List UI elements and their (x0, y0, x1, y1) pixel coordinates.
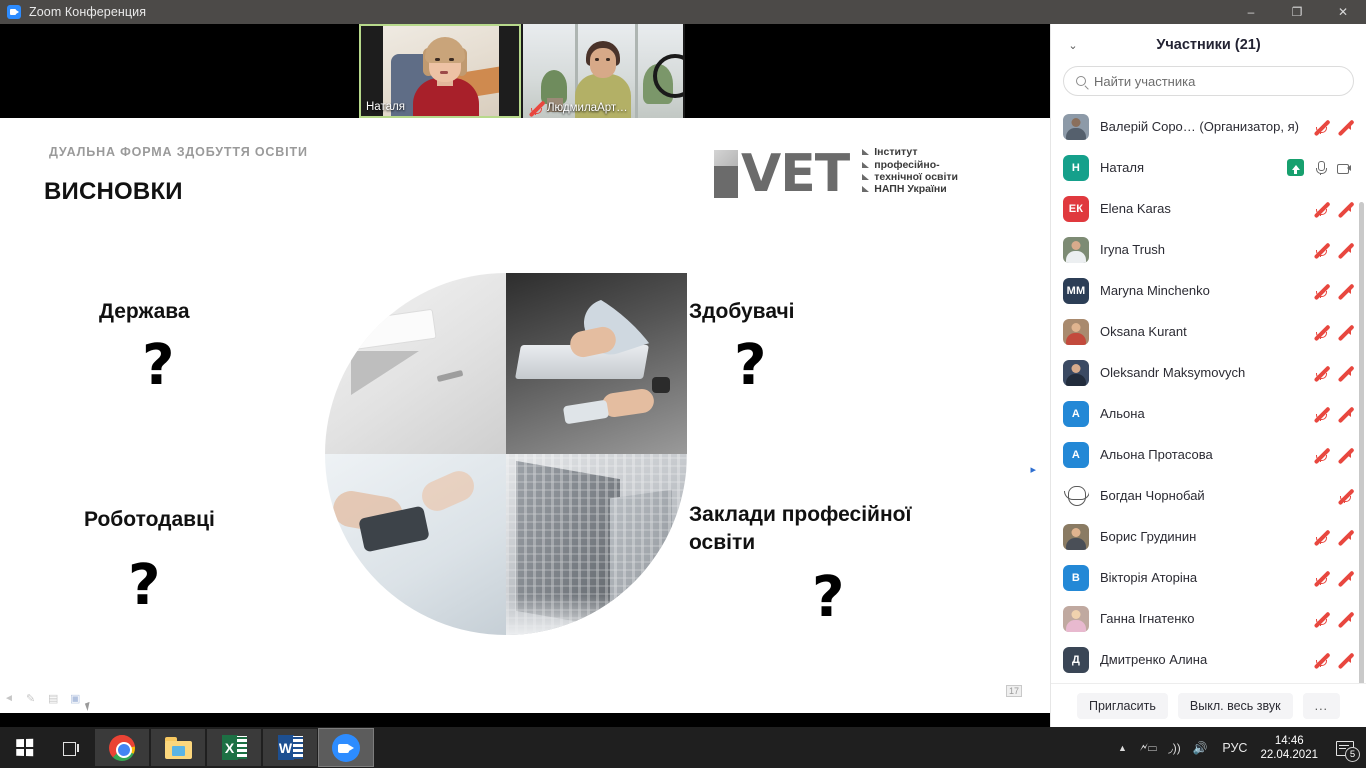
previous-slide-button[interactable] (4, 695, 18, 709)
notifications-button[interactable]: 5 (1326, 727, 1362, 768)
invite-button[interactable]: Пригласить (1077, 693, 1168, 719)
video-filmstrip: Наталя ЛюдмилаАрт… (359, 24, 685, 118)
camera-off-icon[interactable] (1337, 283, 1352, 298)
more-options-button[interactable]: ... (1303, 693, 1340, 719)
ivet-logo-line-3: технічної освіти (862, 171, 958, 183)
search-box[interactable] (1063, 66, 1354, 96)
quadrant-question-employers: ? (128, 558, 160, 614)
windows-logo-icon (16, 739, 33, 756)
chrome-icon (109, 735, 135, 761)
camera-on-icon[interactable] (1337, 160, 1352, 175)
participant-name: Альона Протасова (1100, 447, 1302, 462)
slide-kicker: ДУАЛЬНА ФОРМА ЗДОБУТТЯ ОСВІТИ (49, 145, 308, 159)
camera-off-icon[interactable] (1337, 570, 1352, 585)
participant-status-icons (1313, 611, 1352, 626)
mic-off-icon[interactable] (1313, 611, 1328, 626)
participants-search-wrap (1051, 66, 1366, 106)
close-button[interactable]: ✕ (1320, 0, 1366, 24)
participant-name: Богдан Чорнобай (1100, 488, 1326, 503)
camera-off-icon[interactable] (1337, 242, 1352, 257)
participants-title: Участники (21) (1051, 37, 1366, 53)
taskbar-app-excel[interactable]: X (207, 729, 261, 766)
camera-off-icon[interactable] (1337, 652, 1352, 667)
mic-off-icon[interactable] (1337, 488, 1352, 503)
next-slide-button[interactable] (70, 695, 84, 709)
participant-row[interactable]: А Альона Протасова (1051, 434, 1366, 475)
video-tile-label: ЛюдмилаАрт… (547, 102, 628, 114)
participants-header: ⌄ Участники (21) (1051, 24, 1366, 66)
window-controls: – ❐ ✕ (1228, 0, 1366, 24)
slide-title: ВИСНОВКИ (44, 178, 183, 206)
quadrant-question-institutions: ? (812, 570, 844, 626)
zoom-meeting-window: Zoom Конференция – ❐ ✕ Наталя (0, 0, 1366, 727)
participant-row[interactable]: ЕК Elena Karas (1051, 188, 1366, 229)
participant-status-icons (1313, 447, 1352, 462)
excel-icon: X (222, 735, 247, 760)
zoom-camera-icon (7, 5, 21, 19)
mic-off-icon[interactable] (1313, 652, 1328, 667)
taskbar-app-zoom[interactable] (319, 729, 373, 766)
camera-off-icon[interactable] (1337, 201, 1352, 216)
battery-icon[interactable]: 🗲▭ (1135, 727, 1161, 768)
mic-off-icon[interactable] (1313, 119, 1328, 134)
participant-status-icons (1313, 652, 1352, 667)
mic-off-icon[interactable] (1313, 570, 1328, 585)
participant-name: Elena Karas (1100, 201, 1302, 216)
wifi-icon[interactable]: ◞)) (1161, 727, 1187, 768)
participant-status-icons (1313, 283, 1352, 298)
participant-row[interactable]: ММ Maryna Minchenko (1051, 270, 1366, 311)
mic-off-icon[interactable] (1313, 447, 1328, 462)
avatar (1063, 606, 1089, 632)
window-titlebar: Zoom Конференция – ❐ ✕ (0, 0, 1366, 24)
video-tile-label: Наталя (366, 101, 405, 113)
collage-quadrant-desk (325, 273, 506, 454)
ivet-logo-line-2: професійно- (862, 159, 958, 171)
clock-time: 14:46 (1260, 734, 1318, 748)
zoom-icon (332, 734, 360, 762)
participant-row[interactable]: Oleksandr Maksymovych (1051, 352, 1366, 393)
camera-off-icon[interactable] (1337, 365, 1352, 380)
presentation-controls (4, 695, 84, 709)
start-button[interactable] (0, 727, 48, 768)
quadrant-question-state: ? (142, 338, 174, 394)
participant-status-icons (1313, 570, 1352, 585)
taskbar-app-chrome[interactable] (95, 729, 149, 766)
quadrant-label-employers: Роботодавці (84, 506, 314, 534)
participant-status-icons (1313, 406, 1352, 421)
participant-name: Дмитренко Алина (1100, 652, 1302, 667)
video-tile-natalia[interactable]: Наталя (359, 24, 521, 118)
participant-status-icons (1287, 159, 1352, 176)
maximize-button[interactable]: ❐ (1274, 0, 1320, 24)
avatar (1063, 237, 1089, 263)
participant-status-icons (1313, 242, 1352, 257)
mic-off-icon[interactable] (1313, 365, 1328, 380)
mute-all-button[interactable]: Выкл. весь звук (1178, 693, 1293, 719)
system-tray: ▲ 🗲▭ ◞)) 🔊 РУС 14:46 22.04.2021 5 (1109, 727, 1366, 768)
ivet-logo-line-1: Інститут (862, 146, 958, 158)
ivet-logo-letters: VET (741, 152, 849, 198)
participant-name: Oksana Kurant (1100, 324, 1302, 339)
mic-off-icon (528, 100, 543, 115)
camera-off-icon[interactable] (1337, 447, 1352, 462)
ivet-logo-line-4: НАПН України (862, 183, 958, 195)
participant-name: Maryna Minchenko (1100, 283, 1302, 298)
camera-off-icon[interactable] (1337, 406, 1352, 421)
avatar: Н (1063, 155, 1089, 181)
participant-row[interactable]: Iryna Trush (1051, 229, 1366, 270)
avatar-headset-icon (1063, 483, 1089, 509)
search-input[interactable] (1094, 74, 1341, 89)
slide-page-number: 17 (1006, 685, 1022, 697)
avatar (1063, 360, 1089, 386)
camera-off-icon[interactable] (1337, 119, 1352, 134)
mic-on-icon[interactable] (1313, 160, 1328, 175)
video-tile-name: ЛюдмилаАрт… (523, 99, 633, 116)
participant-status-icons (1313, 119, 1352, 134)
mic-off-icon[interactable] (1313, 201, 1328, 216)
participant-status-icons (1313, 201, 1352, 216)
circular-photo-collage (325, 273, 687, 635)
quadrant-label-institutions: Заклади професійної освіти (689, 501, 979, 556)
avatar: Д (1063, 647, 1089, 673)
participant-name: Ганна Ігнатенко (1100, 611, 1302, 626)
slide-next-caret-icon[interactable]: ▸ (1030, 463, 1036, 476)
tray-overflow-icon[interactable]: ▲ (1109, 727, 1135, 768)
quadrant-label-learners: Здобувачі (689, 298, 795, 326)
camera-off-icon[interactable] (1337, 529, 1352, 544)
mic-off-icon[interactable] (1313, 283, 1328, 298)
quadrant-label-state: Держава (99, 298, 190, 326)
mic-off-icon[interactable] (1313, 529, 1328, 544)
camera-off-icon[interactable] (1337, 324, 1352, 339)
avatar: ЕК (1063, 196, 1089, 222)
task-view-icon (63, 741, 79, 755)
collage-quadrant-phone (325, 454, 506, 635)
mic-off-icon[interactable] (1313, 242, 1328, 257)
participant-status-icons (1337, 488, 1352, 503)
taskbar-app-file-explorer[interactable] (151, 729, 205, 766)
slide-menu-button[interactable] (48, 695, 62, 709)
participant-status-icons (1313, 324, 1352, 339)
raise-hand-icon[interactable] (1287, 159, 1304, 176)
minimize-button[interactable]: – (1228, 0, 1274, 24)
avatar (1063, 524, 1089, 550)
ivet-logo: VET Інститут професійно- технічної освіт… (714, 144, 958, 198)
participant-name: Вікторія Аторіна (1100, 570, 1302, 585)
search-icon (1076, 76, 1086, 86)
avatar (1063, 319, 1089, 345)
participant-status-icons (1313, 365, 1352, 380)
file-explorer-icon (165, 737, 192, 759)
ivet-logo-i (714, 150, 738, 198)
notification-count: 5 (1345, 747, 1360, 762)
avatar: ММ (1063, 278, 1089, 304)
participant-row[interactable]: Д Дмитренко Алина (1051, 639, 1366, 680)
avatar: А (1063, 401, 1089, 427)
windows-taskbar: X W ▲ 🗲▭ ◞)) 🔊 РУС 14:46 22.04.2021 5 (0, 727, 1366, 768)
participant-name: Iryna Trush (1100, 242, 1302, 257)
participants-footer: Пригласить Выкл. весь звук ... (1051, 683, 1366, 727)
participant-row[interactable]: А Альона (1051, 393, 1366, 434)
chevron-down-icon[interactable]: ⌄ (1063, 35, 1083, 55)
clock[interactable]: 14:46 22.04.2021 (1256, 734, 1326, 762)
participant-row[interactable]: Н Наталя (1051, 147, 1366, 188)
video-tile-lyudmila[interactable]: ЛюдмилаАрт… (523, 24, 683, 118)
speaker-icon[interactable]: 🔊 (1187, 727, 1213, 768)
language-indicator[interactable]: РУС (1213, 741, 1256, 755)
collage-quadrant-laptop-hands (506, 273, 687, 454)
avatar (1063, 114, 1089, 140)
window-title: Zoom Конференция (29, 5, 146, 19)
taskbar-app-word[interactable]: W (263, 729, 317, 766)
video-tile-name: Наталя (361, 100, 410, 114)
participants-panel: ⌄ Участники (21) Валерій Соро… (Организа… (1050, 24, 1366, 727)
ivet-logo-mark: VET (714, 144, 849, 198)
participant-row[interactable]: Борис Грудинин (1051, 516, 1366, 557)
participant-name: Альона (1100, 406, 1302, 421)
participant-row[interactable]: Богдан Чорнобай (1051, 475, 1366, 516)
ivet-logo-text: Інститут професійно- технічної освіти НА… (862, 146, 958, 196)
participant-name: Наталя (1100, 160, 1276, 175)
word-icon: W (278, 735, 303, 760)
task-view-button[interactable] (48, 727, 94, 768)
participant-row[interactable]: Ганна Ігнатенко (1051, 598, 1366, 639)
participant-row[interactable]: Валерій Соро… (Организатор, я) (1051, 106, 1366, 147)
participant-status-icons (1313, 529, 1352, 544)
clock-date: 22.04.2021 (1260, 748, 1318, 762)
participants-scrollbar[interactable] (1359, 202, 1364, 683)
pen-tool-button[interactable] (26, 695, 40, 709)
quadrant-question-learners: ? (734, 338, 766, 394)
participant-name: Борис Грудинин (1100, 529, 1302, 544)
participant-row[interactable]: В Вікторія Аторіна (1051, 557, 1366, 598)
camera-off-icon[interactable] (1337, 611, 1352, 626)
collage-quadrant-building (506, 454, 687, 635)
avatar: А (1063, 442, 1089, 468)
participant-name: Oleksandr Maksymovych (1100, 365, 1302, 380)
participant-row[interactable]: Oksana Kurant (1051, 311, 1366, 352)
shared-presentation-slide[interactable]: ДУАЛЬНА ФОРМА ЗДОБУТТЯ ОСВІТИ ВИСНОВКИ V… (0, 118, 1050, 713)
participants-list[interactable]: Валерій Соро… (Организатор, я) Н Наталя … (1051, 106, 1366, 683)
mic-off-icon[interactable] (1313, 406, 1328, 421)
participant-name: Валерій Соро… (Организатор, я) (1100, 119, 1302, 134)
mic-off-icon[interactable] (1313, 324, 1328, 339)
avatar: В (1063, 565, 1089, 591)
